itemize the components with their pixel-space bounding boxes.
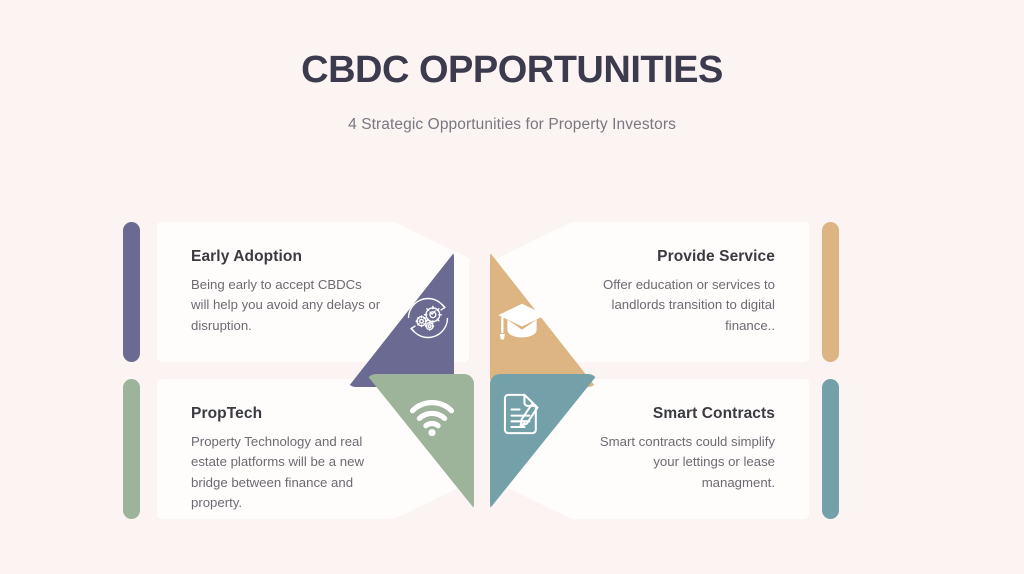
opportunity-card-grid: Early Adoption Being early to accept CBD… <box>157 222 809 519</box>
accent-bar-top-left <box>123 222 140 362</box>
accent-bar-bottom-left <box>123 379 140 519</box>
contract-document-icon <box>496 388 548 440</box>
card-description: Property Technology and real estate plat… <box>191 432 381 514</box>
card-description: Offer education or services to landlords… <box>585 275 775 336</box>
card-title: Provide Service <box>585 248 775 266</box>
card-text-block: Early Adoption Being early to accept CBD… <box>191 248 381 336</box>
card-description: Smart contracts could simplify your lett… <box>585 432 775 493</box>
card-text-block: Smart Contracts Smart contracts could si… <box>585 405 775 493</box>
card-description: Being early to accept CBDCs will help yo… <box>191 275 381 336</box>
card-text-block: PropTech Property Technology and real es… <box>191 405 381 514</box>
page-subtitle: 4 Strategic Opportunities for Property I… <box>0 92 1024 134</box>
graduation-cap-icon <box>496 294 548 346</box>
card-title: PropTech <box>191 405 381 423</box>
gears-icon <box>402 292 454 344</box>
card-title: Early Adoption <box>191 248 381 266</box>
wifi-icon <box>406 390 458 442</box>
card-text-block: Provide Service Offer education or servi… <box>585 248 775 336</box>
page-title: CBDC OPPORTUNITIES <box>0 50 1024 92</box>
accent-bar-top-right <box>822 222 839 362</box>
slide-header: CBDC OPPORTUNITIES 4 Strategic Opportuni… <box>0 0 1024 134</box>
accent-bar-bottom-right <box>822 379 839 519</box>
card-title: Smart Contracts <box>585 405 775 423</box>
